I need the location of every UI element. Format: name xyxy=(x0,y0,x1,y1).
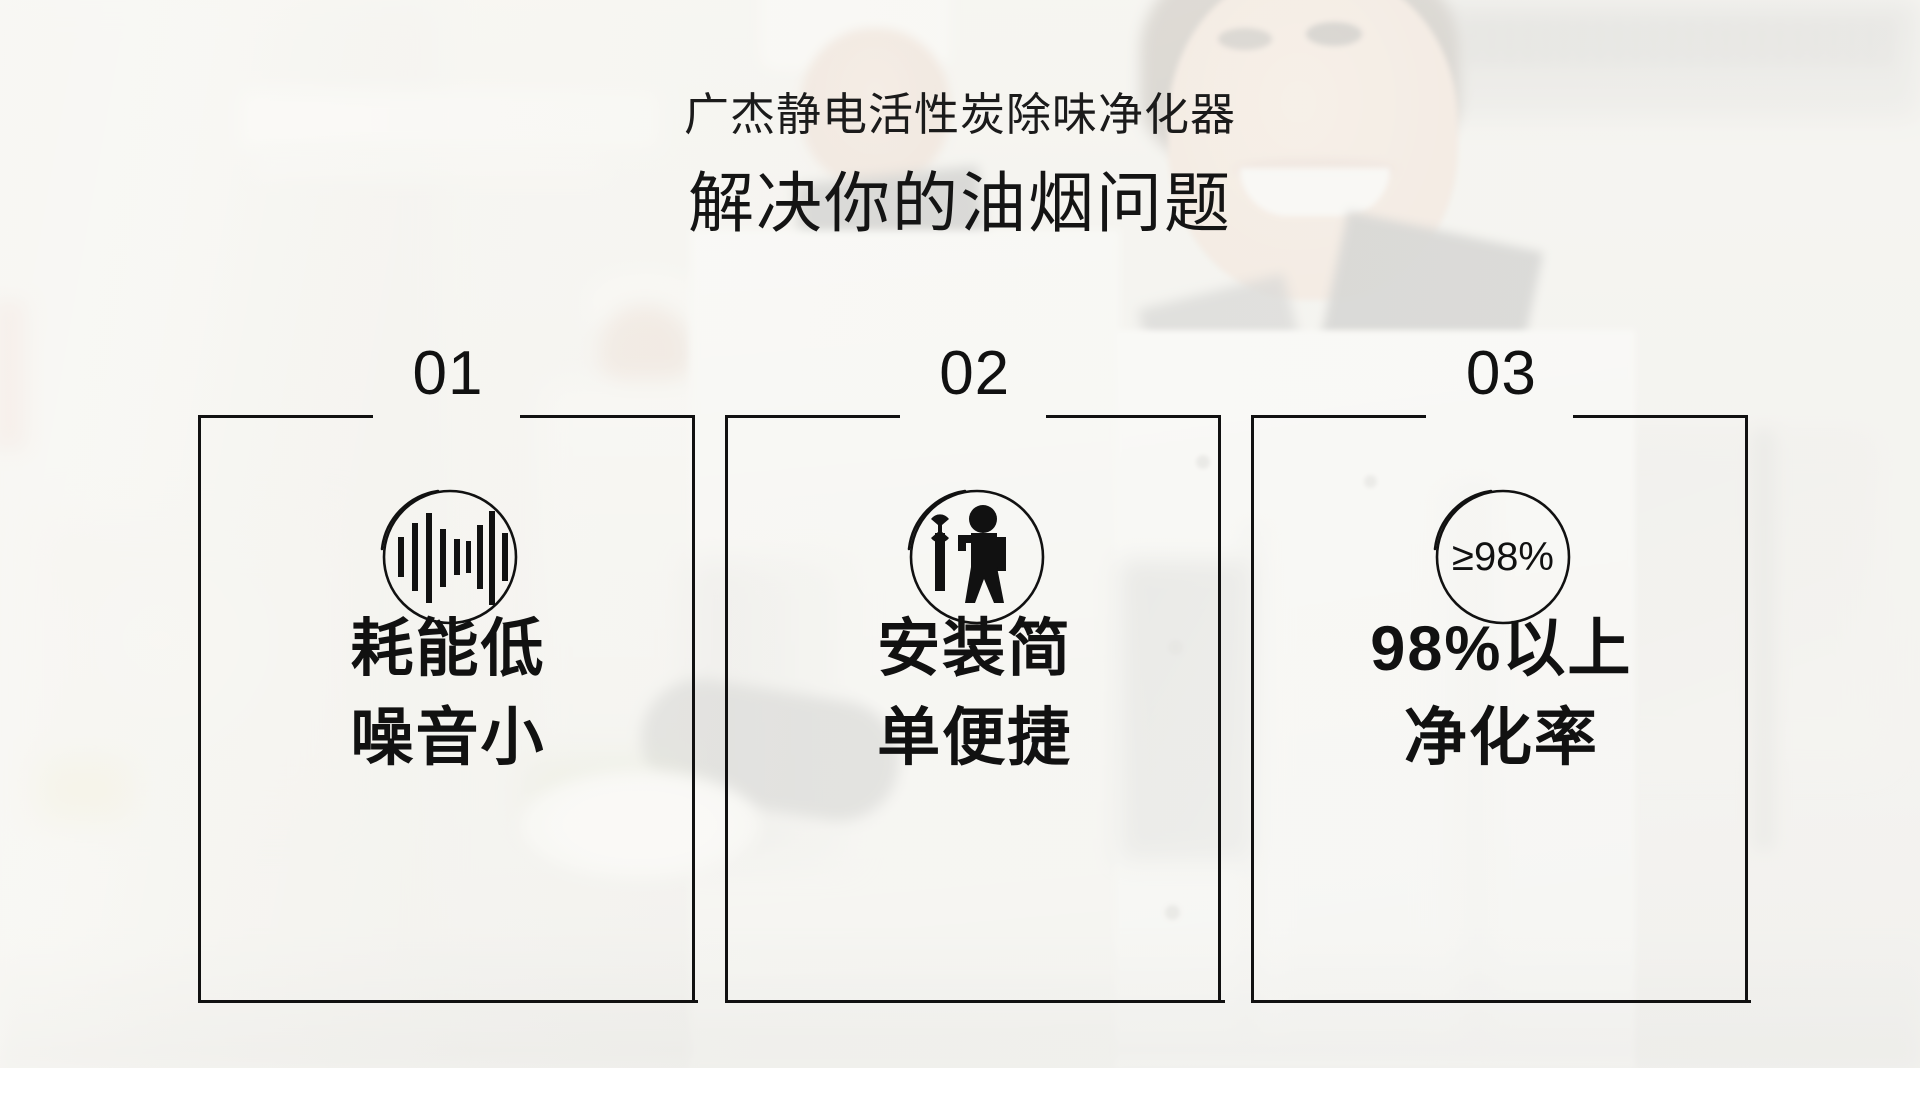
card-number-badge: 01 xyxy=(198,343,698,405)
card-frame-top-left xyxy=(198,415,373,418)
card-text-line-2: 单便捷 xyxy=(725,694,1225,783)
card-text-line-2: 噪音小 xyxy=(198,694,698,783)
card-frame-top-left xyxy=(1251,415,1426,418)
card-text-line-1: 98%以上 xyxy=(1251,605,1751,694)
card-text: 安装简 单便捷 xyxy=(725,605,1225,784)
card-frame-bottom xyxy=(725,1000,1225,1003)
feature-card-02[interactable]: 02 xyxy=(725,415,1222,1003)
card-text: 98%以上 净化率 xyxy=(1251,605,1751,784)
promo-banner: 广杰静电活性炭除味净化器 解决你的油烟问题 01 xyxy=(0,0,1920,1101)
card-frame-bottom xyxy=(1251,1000,1751,1003)
purification-rate-label: ≥98% xyxy=(1452,535,1554,579)
card-number-badge: 03 xyxy=(1251,343,1751,405)
card-frame-top-right xyxy=(1046,415,1221,418)
card-frame-top-right xyxy=(520,415,695,418)
heading-block: 广杰静电活性炭除味净化器 解决你的油烟问题 xyxy=(0,0,1920,239)
card-frame-top-left xyxy=(725,415,900,418)
card-frame-bottom xyxy=(198,1000,698,1003)
card-text-line-2: 净化率 xyxy=(1251,694,1751,783)
feature-card-01[interactable]: 01 xyxy=(198,415,695,1003)
card-number-badge: 02 xyxy=(725,343,1225,405)
card-text-line-1: 耗能低 xyxy=(198,605,698,694)
card-text: 耗能低 噪音小 xyxy=(198,605,698,784)
feature-card-list: 01 xyxy=(198,415,1748,1003)
product-subtitle: 广杰静电活性炭除味净化器 xyxy=(0,90,1920,140)
footer-white-strip xyxy=(0,1068,1920,1101)
page-title: 解决你的油烟问题 xyxy=(0,167,1920,240)
feature-card-03[interactable]: 03 ≥98% 98%以上 净化率 xyxy=(1251,415,1748,1003)
card-frame-top-right xyxy=(1573,415,1748,418)
card-text-line-1: 安装简 xyxy=(725,605,1225,694)
